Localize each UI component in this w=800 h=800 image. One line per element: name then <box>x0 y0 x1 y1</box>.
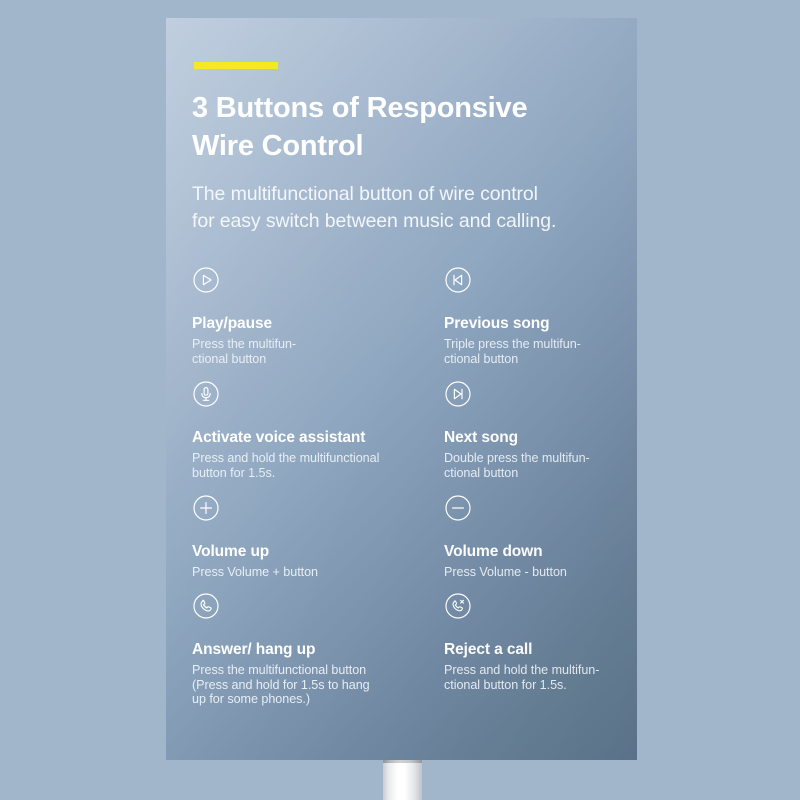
feature-title: Next song <box>444 428 637 448</box>
microphone-icon <box>192 380 220 408</box>
feature-title: Previous song <box>444 314 637 334</box>
feature-desc-line-1: Double press the multifun- <box>444 451 637 466</box>
feature-desc-line-2: (Press and hold for 1.5s to hang <box>192 678 416 693</box>
feature-desc-line-1: Press the multifunctional button <box>192 663 416 678</box>
feature-desc-line-1: Press Volume + button <box>192 565 416 580</box>
minus-icon <box>444 494 472 522</box>
feature-desc-line-2: ctional button <box>192 352 416 367</box>
feature-description: Double press the multifun- ctional butto… <box>444 451 637 480</box>
feature-item-previous-song: Previous song Triple press the multifun-… <box>444 266 637 366</box>
feature-description: Triple press the multifun- ctional butto… <box>444 337 637 366</box>
feature-desc-line-2: button for 1.5s. <box>192 466 416 481</box>
feature-desc-line-2: ctional button for 1.5s. <box>444 678 637 693</box>
previous-song-icon <box>444 266 472 294</box>
feature-title: Answer/ hang up <box>192 640 416 660</box>
phone-answer-icon <box>192 592 220 620</box>
feature-title: Volume up <box>192 542 416 562</box>
feature-desc-line-1: Press and hold the multifun- <box>444 663 637 678</box>
feature-item-volume-up: Volume up Press Volume + button <box>192 494 416 580</box>
feature-description: Press the multifun- ctional button <box>192 337 416 366</box>
phone-reject-icon <box>444 592 472 620</box>
feature-title: Activate voice assistant <box>192 428 416 448</box>
feature-desc-line-3: up for some phones.) <box>192 692 416 707</box>
feature-desc-line-1: Press Volume - button <box>444 565 637 580</box>
feature-desc-line-1: Triple press the multifun- <box>444 337 637 352</box>
feature-description: Press and hold the multifun- ctional but… <box>444 663 637 692</box>
feature-description: Press the multifunctional button (Press … <box>192 663 416 707</box>
feature-item-volume-down: Volume down Press Volume - button <box>444 494 637 580</box>
feature-item-next-song: Next song Double press the multifun- cti… <box>444 380 637 480</box>
earphone-jack <box>383 758 422 800</box>
feature-desc-line-2: ctional button <box>444 466 637 481</box>
feature-title: Play/pause <box>192 314 416 334</box>
feature-grid: Play/pause Press the multifun- ctional b… <box>166 18 637 760</box>
plus-icon <box>192 494 220 522</box>
feature-item-reject-call: Reject a call Press and hold the multifu… <box>444 592 637 692</box>
feature-item-voice-assistant: Activate voice assistant Press and hold … <box>192 380 416 480</box>
feature-description: Press and hold the multifunctional butto… <box>192 451 416 480</box>
play-pause-icon <box>192 266 220 294</box>
product-feature-card: 3 Buttons of Responsive Wire Control The… <box>166 18 637 760</box>
feature-desc-line-1: Press and hold the multifunctional <box>192 451 416 466</box>
feature-item-play-pause: Play/pause Press the multifun- ctional b… <box>192 266 416 366</box>
feature-description: Press Volume - button <box>444 565 637 580</box>
feature-desc-line-2: ctional button <box>444 352 637 367</box>
next-song-icon <box>444 380 472 408</box>
feature-title: Volume down <box>444 542 637 562</box>
feature-title: Reject a call <box>444 640 637 660</box>
feature-desc-line-1: Press the multifun- <box>192 337 416 352</box>
feature-item-answer-hang-up: Answer/ hang up Press the multifunctiona… <box>192 592 416 707</box>
feature-description: Press Volume + button <box>192 565 416 580</box>
